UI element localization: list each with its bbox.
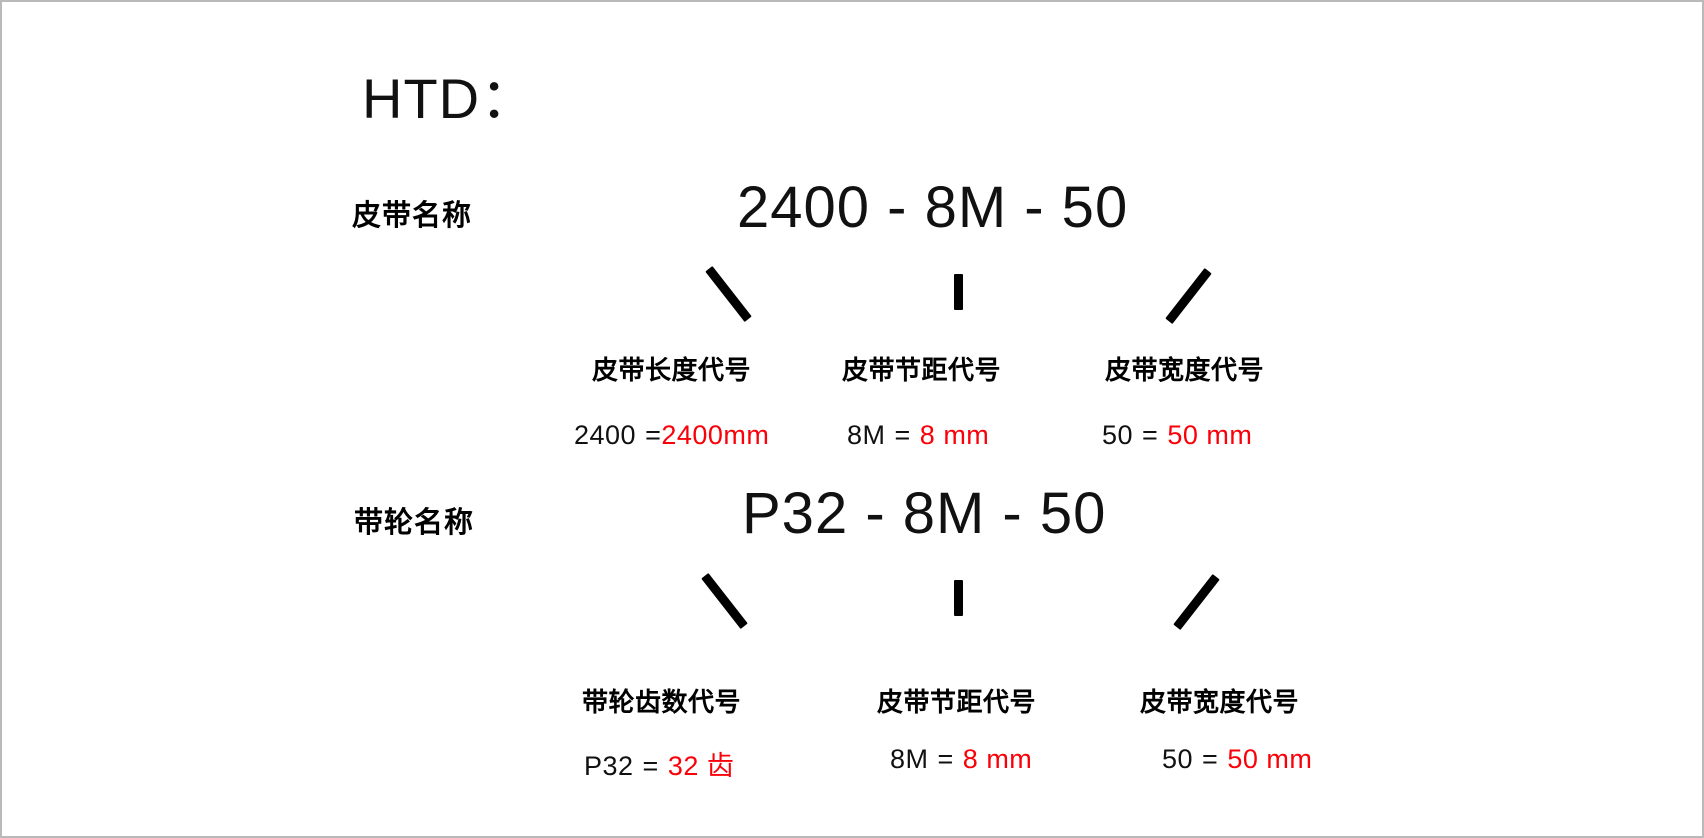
value-belt-length-key: 2400 [574, 420, 636, 450]
value-pulley-width-equals: = [1202, 744, 1218, 774]
value-pulley-teeth-equals: = [643, 751, 659, 781]
label-belt-width-code: 皮带宽度代号 [1105, 350, 1264, 387]
value-pulley-pitch-result: 8 mm [963, 744, 1033, 774]
connector-belt-width [1165, 268, 1211, 324]
value-pulley-teeth-result: 32 齿 [668, 751, 735, 781]
pulley-code: P32 - 8M - 50 [742, 480, 1106, 547]
label-pulley-pitch-code: 皮带节距代号 [877, 682, 1036, 719]
label-belt-pitch-code: 皮带节距代号 [842, 350, 1001, 387]
belt-row-heading: 皮带名称 [352, 192, 472, 234]
value-belt-pitch-key: 8M [847, 420, 886, 450]
pulley-row-heading: 带轮名称 [354, 499, 474, 541]
value-belt-width-equals: = [1142, 420, 1158, 450]
value-pulley-pitch-equals: = [938, 744, 954, 774]
value-belt-width: 50=50 mm [1102, 420, 1252, 451]
belt-code: 2400 - 8M - 50 [737, 174, 1128, 241]
connector-belt-pitch [954, 274, 963, 310]
value-pulley-pitch-key: 8M [890, 744, 929, 774]
value-pulley-width: 50=50 mm [1162, 744, 1312, 775]
connector-pulley-width [1173, 574, 1219, 630]
value-pulley-width-result: 50 mm [1227, 744, 1312, 774]
value-belt-length-equals: = [645, 420, 661, 450]
connector-pulley-pitch [954, 580, 963, 616]
connector-pulley-teeth [701, 573, 747, 629]
value-pulley-teeth: P32=32 齿 [584, 744, 734, 783]
connector-belt-length [705, 266, 751, 322]
value-pulley-pitch: 8M=8 mm [890, 744, 1032, 775]
value-belt-pitch-equals: = [895, 420, 911, 450]
value-belt-width-key: 50 [1102, 420, 1133, 450]
value-belt-pitch: 8M=8 mm [847, 420, 989, 451]
value-pulley-teeth-key: P32 [584, 751, 634, 781]
diagram-page: HTD： 皮带名称 2400 - 8M - 50 皮带长度代号 皮带节距代号 皮… [0, 0, 1704, 838]
value-belt-pitch-result: 8 mm [920, 420, 990, 450]
value-belt-length: 2400=2400mm [574, 420, 769, 451]
value-pulley-width-key: 50 [1162, 744, 1193, 774]
label-pulley-width-code: 皮带宽度代号 [1140, 682, 1299, 719]
page-title: HTD： [362, 54, 537, 135]
value-belt-length-result: 2400mm [661, 420, 769, 450]
value-belt-width-result: 50 mm [1167, 420, 1252, 450]
label-belt-length-code: 皮带长度代号 [592, 350, 751, 387]
label-pulley-teeth-code: 带轮齿数代号 [582, 682, 741, 719]
